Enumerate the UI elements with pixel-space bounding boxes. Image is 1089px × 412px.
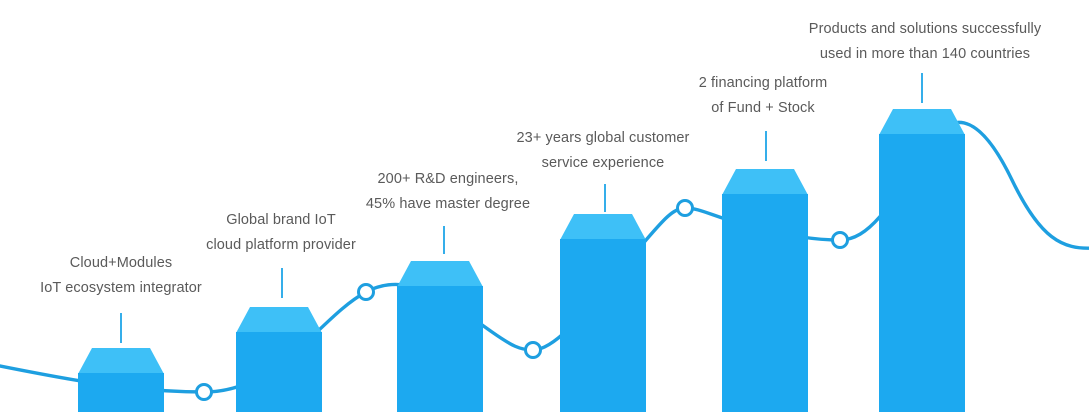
callout-tick-6 [921, 73, 923, 103]
callout-milestone-6: Products and solutions successfully used… [790, 17, 1060, 67]
infographic-canvas: Cloud+Modules IoT ecosystem integrator G… [0, 0, 1089, 412]
callout-milestone-4: 23+ years global customer service experi… [498, 126, 708, 176]
callout-tick-5 [765, 131, 767, 161]
callout-line-4-b: service experience [498, 151, 708, 176]
callout-line-3-b: 45% have master degree [343, 192, 553, 217]
callout-line-5-a: 2 financing platform [668, 71, 858, 96]
callout-line-1-b: IoT ecosystem integrator [21, 276, 221, 301]
callout-tick-2 [281, 268, 283, 298]
callout-line-2-b: cloud platform provider [181, 233, 381, 258]
callout-tick-3 [443, 226, 445, 254]
callout-milestone-5: 2 financing platform of Fund + Stock [668, 71, 858, 121]
callout-line-6-b: used in more than 140 countries [790, 42, 1060, 67]
callout-line-6-a: Products and solutions successfully [790, 17, 1060, 42]
callout-milestone-1: Cloud+Modules IoT ecosystem integrator [21, 251, 221, 301]
callout-labels-group: Cloud+Modules IoT ecosystem integrator G… [0, 0, 1089, 412]
callout-tick-1 [120, 313, 122, 343]
callout-line-4-a: 23+ years global customer [498, 126, 708, 151]
callout-line-5-b: of Fund + Stock [668, 96, 858, 121]
callout-tick-4 [604, 184, 606, 212]
